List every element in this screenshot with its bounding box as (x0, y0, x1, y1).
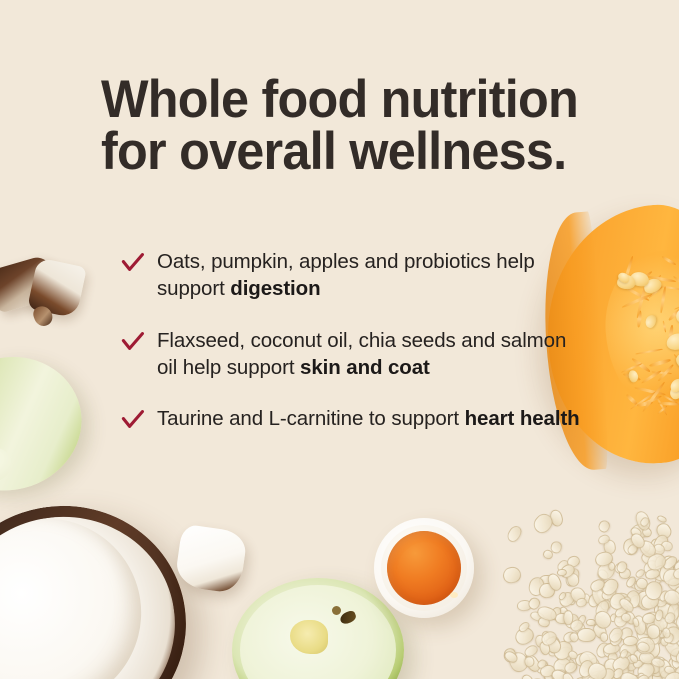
list-item: Oats, pumpkin, apples and probiotics hel… (121, 248, 591, 303)
checkmark-icon (121, 331, 145, 353)
page-title: Whole food nutrition for overall wellnes… (101, 74, 595, 178)
list-item-lead: Oats, pumpkin, apples and probiotics hel… (157, 250, 535, 300)
list-item: Taurine and L-carnitine to support heart… (121, 405, 591, 432)
checkmark-icon (121, 409, 145, 431)
checkmark-icon (121, 252, 145, 274)
list-item-text: Oats, pumpkin, apples and probiotics hel… (157, 250, 535, 300)
list-item-emphasis: heart health (465, 407, 580, 430)
list-item-text: Flaxseed, coconut oil, chia seeds and sa… (157, 329, 566, 379)
list-item-emphasis: digestion (230, 277, 320, 300)
list-item: Flaxseed, coconut oil, chia seeds and sa… (121, 327, 591, 382)
list-item-text: Taurine and L-carnitine to support heart… (157, 407, 580, 430)
benefits-list: Oats, pumpkin, apples and probiotics hel… (121, 248, 591, 432)
list-item-lead: Taurine and L-carnitine to support (157, 407, 465, 430)
list-item-emphasis: skin and coat (300, 356, 430, 379)
product-benefits-banner: Whole food nutrition for overall wellnes… (0, 0, 679, 679)
